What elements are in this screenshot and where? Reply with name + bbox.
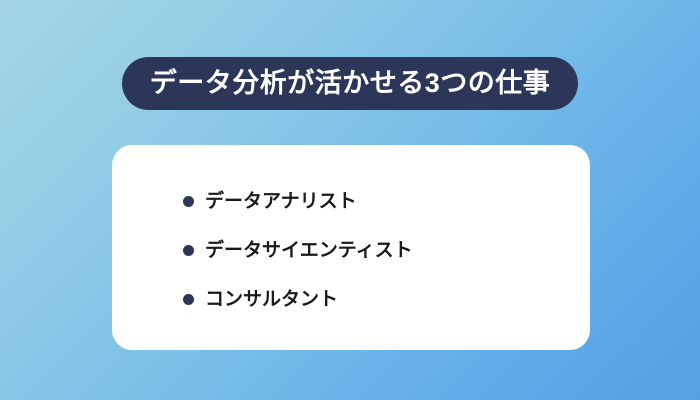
- bullet-icon: [183, 245, 194, 256]
- bullet-icon: [183, 294, 194, 305]
- list-item: データアナリスト: [183, 177, 413, 226]
- slide-canvas: データ分析が活かせる3つの仕事 データアナリスト データサイエンティスト コンサ…: [0, 0, 700, 400]
- job-list: データアナリスト データサイエンティスト コンサルタント: [183, 177, 413, 324]
- list-item-label: データサイエンティスト: [205, 241, 413, 260]
- content-card: データアナリスト データサイエンティスト コンサルタント: [112, 145, 590, 350]
- title-pill: データ分析が活かせる3つの仕事: [122, 57, 578, 110]
- bullet-icon: [183, 196, 194, 207]
- list-item: データサイエンティスト: [183, 226, 413, 275]
- list-item-label: コンサルタント: [205, 290, 338, 309]
- list-item: コンサルタント: [183, 275, 413, 324]
- list-item-label: データアナリスト: [205, 192, 357, 211]
- page-title: データ分析が活かせる3つの仕事: [150, 70, 551, 97]
